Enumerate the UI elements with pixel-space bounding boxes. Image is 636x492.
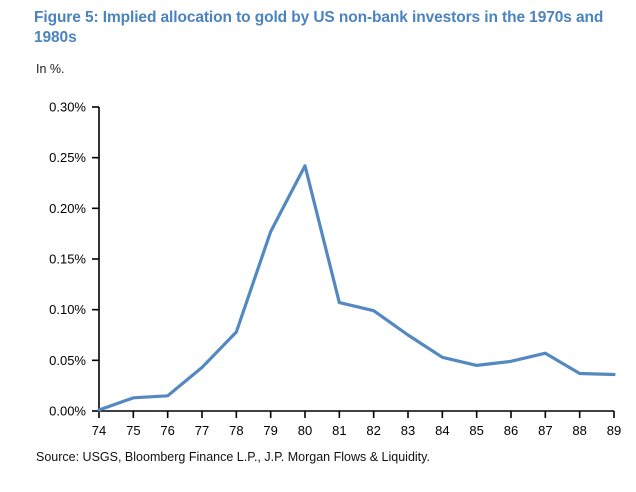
line-chart-svg: 0.00%0.05%0.10%0.15%0.20%0.25%0.30% 7475… (0, 0, 636, 492)
x-tick-label: 75 (126, 423, 140, 438)
x-tick-label: 84 (435, 423, 449, 438)
x-tick-label: 77 (195, 423, 209, 438)
y-axis-ticks: 0.00%0.05%0.10%0.15%0.20%0.25%0.30% (49, 100, 99, 419)
y-tick-label: 0.25% (49, 150, 86, 165)
x-tick-label: 79 (263, 423, 277, 438)
x-tick-label: 78 (229, 423, 243, 438)
x-tick-label: 82 (366, 423, 380, 438)
x-tick-label: 83 (401, 423, 415, 438)
data-series-line (99, 166, 614, 410)
y-tick-label: 0.00% (49, 404, 86, 419)
y-tick-label: 0.30% (49, 100, 86, 115)
y-tick-label: 0.05% (49, 353, 86, 368)
x-tick-label: 81 (332, 423, 346, 438)
x-tick-label: 89 (607, 423, 621, 438)
y-tick-label: 0.15% (49, 252, 86, 267)
x-tick-label: 87 (538, 423, 552, 438)
x-tick-label: 86 (504, 423, 518, 438)
figure-source-note: Source: USGS, Bloomberg Finance L.P., J.… (36, 450, 430, 464)
x-axis-ticks: 74757677787980818283848586878889 (92, 411, 621, 438)
y-tick-label: 0.10% (49, 302, 86, 317)
x-tick-label: 88 (572, 423, 586, 438)
x-tick-label: 85 (469, 423, 483, 438)
chart-plot-area: 0.00%0.05%0.10%0.15%0.20%0.25%0.30% 7475… (0, 0, 636, 492)
x-tick-label: 74 (92, 423, 106, 438)
x-tick-label: 80 (298, 423, 312, 438)
x-tick-label: 76 (160, 423, 174, 438)
figure-container: Figure 5: Implied allocation to gold by … (0, 0, 636, 492)
y-tick-label: 0.20% (49, 201, 86, 216)
